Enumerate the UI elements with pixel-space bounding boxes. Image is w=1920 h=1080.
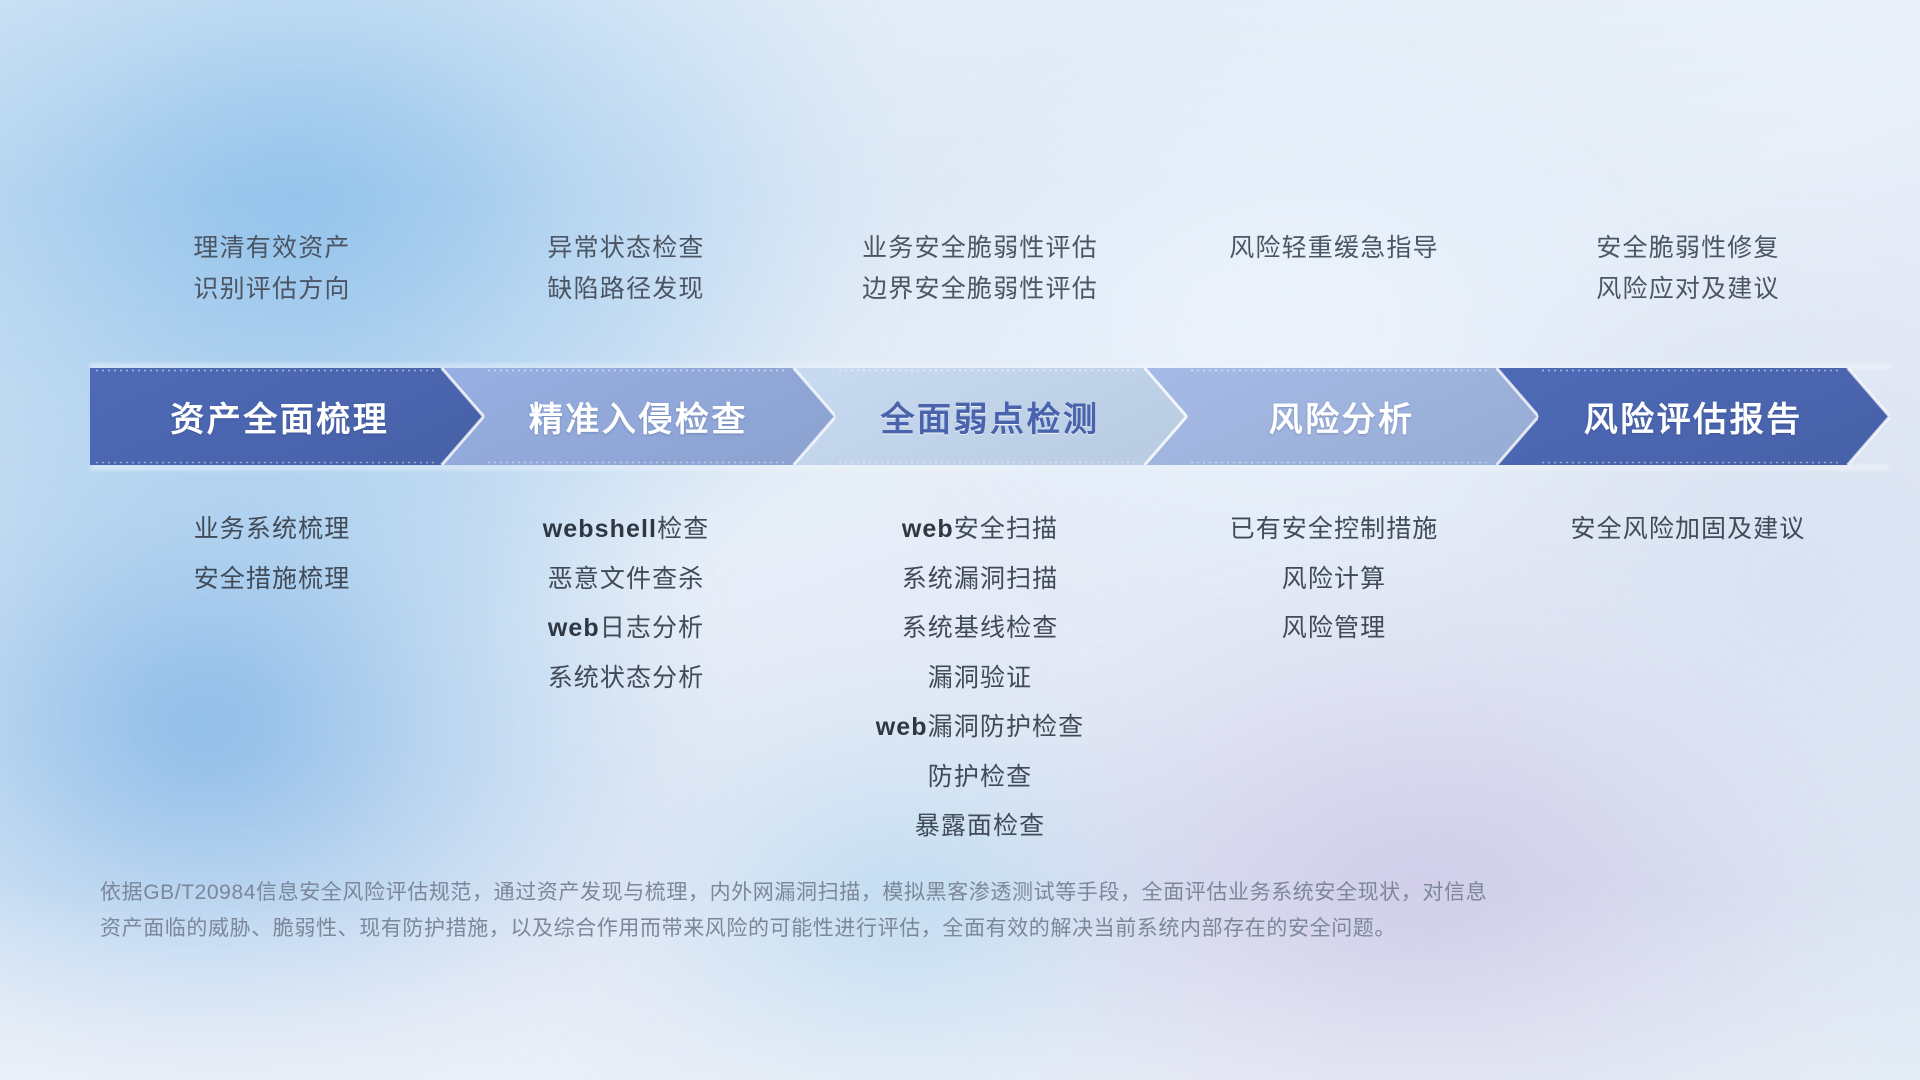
stage-chevron-3[interactable]: 全面弱点检测	[793, 368, 1187, 465]
bottom-detail-item: web日志分析	[449, 604, 803, 654]
stage-chevron-2[interactable]: 精准入侵检查	[442, 368, 836, 465]
top-caption-line: 边界安全脆弱性评估	[803, 269, 1157, 310]
process-stage-banner: 资产全面梳理精准入侵检查全面弱点检测风险分析风险评估报告	[90, 368, 1890, 465]
top-caption-line: 安全脆弱性修复	[1511, 228, 1865, 269]
detail-item-keyword: web	[548, 614, 600, 642]
top-caption-row: 理清有效资产识别评估方向异常状态检查缺陷路径发现业务安全脆弱性评估边界安全脆弱性…	[95, 228, 1865, 310]
bottom-detail-item: 安全措施梳理	[95, 555, 449, 605]
bottom-detail-item: 风险管理	[1157, 604, 1511, 654]
top-caption-cell: 异常状态检查缺陷路径发现	[449, 228, 803, 310]
detail-item-keyword: web	[876, 713, 928, 741]
top-caption-line: 理清有效资产	[95, 228, 449, 269]
top-caption-line: 异常状态检查	[449, 228, 803, 269]
bottom-detail-item: web漏洞防护检查	[803, 703, 1157, 753]
stage-chevron-5[interactable]: 风险评估报告	[1496, 368, 1890, 465]
stage-chevron-4[interactable]: 风险分析	[1145, 368, 1539, 465]
stage-chevron-1[interactable]: 资产全面梳理	[90, 368, 484, 465]
bottom-detail-item: 系统基线检查	[803, 604, 1157, 654]
banner-bottom-highlight	[90, 465, 1890, 470]
detail-item-suffix: 检查	[657, 515, 709, 543]
detail-item-keyword: web	[902, 515, 954, 543]
top-caption-line: 缺陷路径发现	[449, 269, 803, 310]
top-caption-cell: 风险轻重缓急指导	[1157, 228, 1511, 310]
bottom-detail-item: 恶意文件查杀	[449, 555, 803, 605]
stage-label-4: 风险分析	[1269, 392, 1415, 441]
bottom-detail-item: 已有安全控制措施	[1157, 505, 1511, 555]
top-caption-line: 业务安全脆弱性评估	[803, 228, 1157, 269]
detail-item-suffix: 日志分析	[600, 614, 704, 642]
top-caption-cell: 理清有效资产识别评估方向	[95, 228, 449, 310]
bottom-detail-item: webshell检查	[449, 505, 803, 555]
stage-label-3: 全面弱点检测	[880, 392, 1099, 441]
bottom-detail-item: 风险计算	[1157, 555, 1511, 605]
footer-description: 依据GB/T20984信息安全风险评估规范，通过资产发现与梳理，内外网漏洞扫描，…	[100, 875, 1820, 947]
bottom-detail-item: 系统状态分析	[449, 654, 803, 704]
bottom-detail-row: 业务系统梳理安全措施梳理webshell检查恶意文件查杀web日志分析系统状态分…	[95, 505, 1865, 852]
bottom-detail-item: web安全扫描	[803, 505, 1157, 555]
stage-label-1: 资产全面梳理	[170, 392, 389, 441]
top-caption-line: 风险应对及建议	[1511, 269, 1865, 310]
process-diagram: 理清有效资产识别评估方向异常状态检查缺陷路径发现业务安全脆弱性评估边界安全脆弱性…	[0, 0, 1920, 1080]
top-caption-cell: 安全脆弱性修复风险应对及建议	[1511, 228, 1865, 310]
bottom-detail-item: 业务系统梳理	[95, 505, 449, 555]
stage-label-2: 精准入侵检查	[529, 392, 748, 441]
footer-line-2: 资产面临的威胁、脆弱性、现有防护措施，以及综合作用而带来风险的可能性进行评估，全…	[100, 911, 1820, 947]
detail-item-suffix: 漏洞防护检查	[928, 713, 1085, 741]
bottom-detail-cell: 已有安全控制措施风险计算风险管理	[1157, 505, 1511, 852]
bottom-detail-cell: web安全扫描系统漏洞扫描系统基线检查漏洞验证web漏洞防护检查防护检查暴露面检…	[803, 505, 1157, 852]
bottom-detail-item: 漏洞验证	[803, 654, 1157, 704]
bottom-detail-cell: webshell检查恶意文件查杀web日志分析系统状态分析	[449, 505, 803, 852]
bottom-detail-cell: 安全风险加固及建议	[1511, 505, 1865, 852]
top-caption-line: 风险轻重缓急指导	[1157, 228, 1511, 269]
top-caption-cell: 业务安全脆弱性评估边界安全脆弱性评估	[803, 228, 1157, 310]
bottom-detail-item: 暴露面检查	[803, 802, 1157, 852]
detail-item-suffix: 安全扫描	[954, 515, 1058, 543]
detail-item-keyword: webshell	[543, 515, 657, 543]
bottom-detail-item: 防护检查	[803, 753, 1157, 803]
bottom-detail-item: 系统漏洞扫描	[803, 555, 1157, 605]
bottom-detail-cell: 业务系统梳理安全措施梳理	[95, 505, 449, 852]
top-caption-line: 识别评估方向	[95, 269, 449, 310]
footer-line-1: 依据GB/T20984信息安全风险评估规范，通过资产发现与梳理，内外网漏洞扫描，…	[100, 875, 1820, 911]
bottom-detail-item: 安全风险加固及建议	[1511, 505, 1865, 555]
stage-label-5: 风险评估报告	[1584, 392, 1803, 441]
